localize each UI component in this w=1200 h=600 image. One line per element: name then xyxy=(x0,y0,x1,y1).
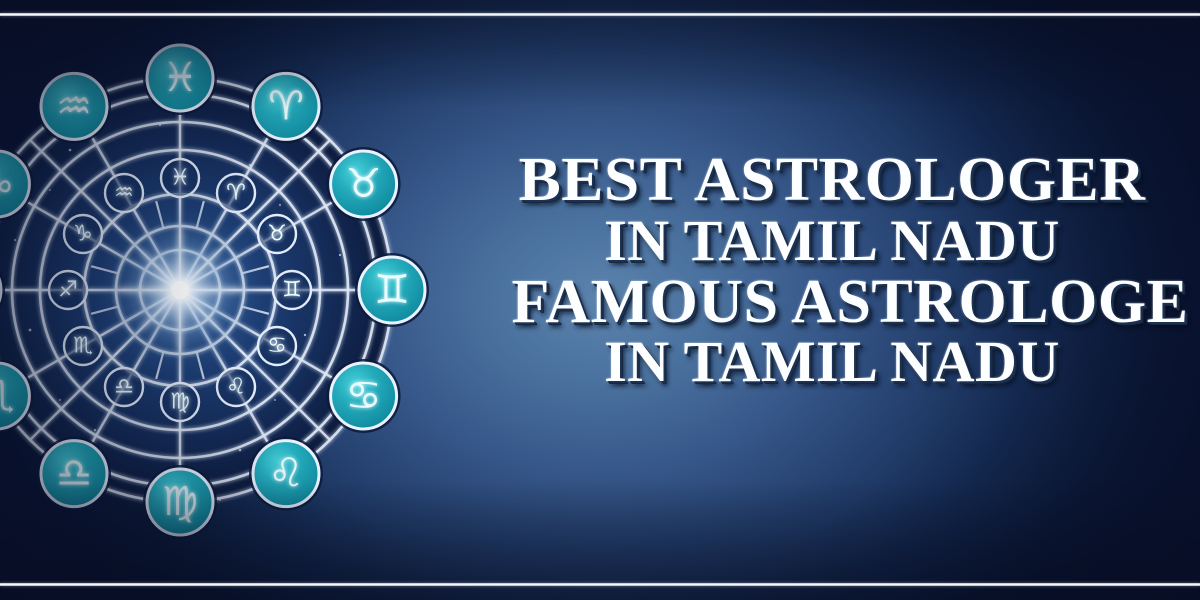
astrology-banner: ♓♈♉♊♋♌♍♎♏♐♑♒ ♓♈♉♊♋♌♍♎♏♐♑♒ BEST ASTROLOGE… xyxy=(0,0,1200,600)
bottom-divider-rule xyxy=(0,583,1200,586)
background-vignette xyxy=(0,0,1200,600)
top-divider-rule xyxy=(0,13,1200,16)
